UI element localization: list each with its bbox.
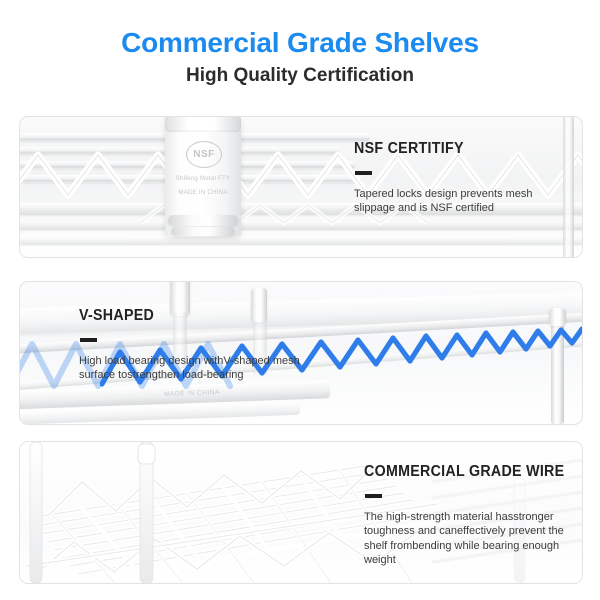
panel-body: High load bearing design withV-shaped me… [79,354,311,383]
feature-panel-commercial-wire: COMMERCIAL GRADE WIRE The high-strength … [19,441,583,584]
page-subtitle: High Quality Certification [0,64,600,88]
panel-body: The high-strength material hasstronger t… [364,510,582,568]
panel-heading: V-SHAPED [79,306,292,325]
panel-heading: COMMERCIAL GRADE WIRE [364,462,565,481]
panel-text-nsf: NSF CERTITIFY Tapered locks design preve… [354,139,569,216]
divider-dash [365,494,382,498]
promo-image: Commercial Grade Shelves High Quality Ce… [0,0,600,600]
header: Commercial Grade Shelves High Quality Ce… [0,0,600,108]
panel-heading: NSF CERTITIFY [354,139,552,158]
page-title: Commercial Grade Shelves [0,26,600,60]
divider-dash [80,338,97,342]
panel-text-vshaped: V-SHAPED High load bearing design withV-… [79,306,311,383]
clip-mark-line-1: Shifeng Metal FTY [165,175,241,182]
nsf-logo-icon: NSF [186,141,222,168]
panel-text-commercial-wire: COMMERCIAL GRADE WIRE The high-strength … [364,462,582,568]
feature-panel-nsf: NSF Shifeng Metal FTY MADE IN CHINA NSF … [19,116,583,258]
panel-body: Tapered locks design prevents mesh slipp… [354,187,569,216]
feature-panel-vshaped: MADE IN CHINA V-SHAPED High load bearing… [19,281,583,425]
divider-dash [355,171,372,175]
shelf-lock-clip: NSF Shifeng Metal FTY MADE IN CHINA [165,117,241,237]
clip-mark-line-2: MADE IN CHINA [165,189,241,196]
